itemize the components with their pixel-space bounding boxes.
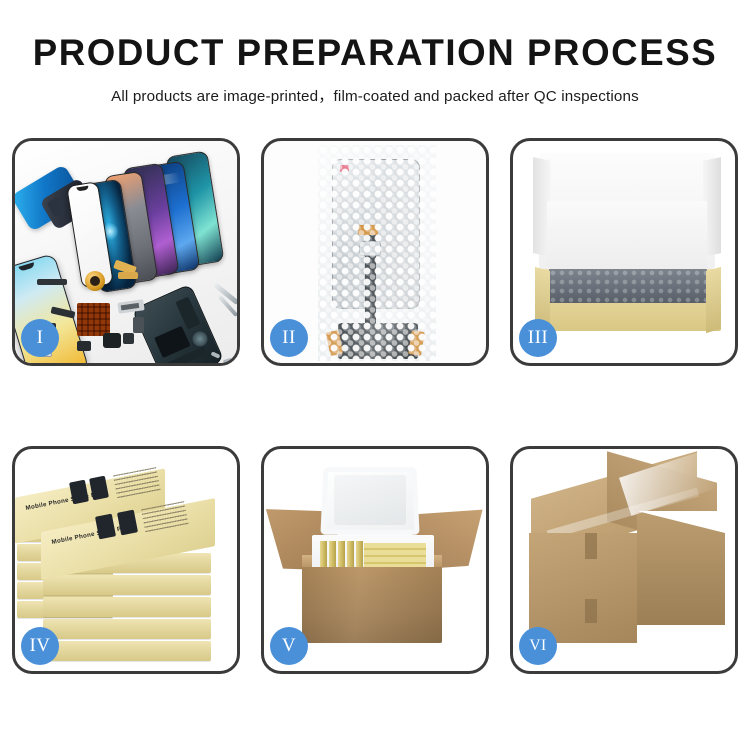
front-stack-slab-2 [43, 575, 211, 595]
process-steps-grid: I II [12, 138, 738, 674]
flex-cable-part-3 [118, 272, 138, 279]
step-card-iii: III [510, 138, 738, 366]
screws-part [211, 353, 237, 363]
battery-part [133, 317, 144, 333]
earpiece-part [103, 333, 121, 348]
button-part-1 [77, 341, 91, 351]
step-badge-vi: VI [519, 627, 557, 665]
step-card-i: I [12, 138, 240, 366]
step-badge-iv: IV [21, 627, 59, 665]
page-title: PRODUCT PREPARATION PROCESS [4, 34, 747, 73]
bubble-wrapped-contents [549, 269, 707, 303]
step-badge-ii: II [270, 319, 308, 357]
step-badge-v: V [270, 627, 308, 665]
front-stack-slab-4 [43, 619, 211, 639]
carton-seam-bottom [585, 599, 597, 623]
foam-sheet [547, 201, 707, 273]
copper-mesh-part [77, 303, 110, 336]
front-stack-slab-5 [43, 641, 211, 661]
plastic-sheen [318, 145, 436, 361]
carton-side-face [637, 511, 725, 625]
foam-lid-inner [334, 475, 406, 525]
speaker-part [85, 271, 105, 291]
step-badge-i: I [21, 319, 59, 357]
tray-right-corner [706, 267, 721, 333]
carton-body [302, 567, 442, 643]
carton-seam-top [585, 533, 597, 559]
step-card-v: V [261, 446, 489, 674]
header: PRODUCT PREPARATION PROCESS All products… [0, 0, 750, 106]
product-preparation-process-page: PRODUCT PREPARATION PROCESS All products… [0, 0, 750, 750]
front-stack-slab-3 [43, 597, 211, 617]
step-card-ii: II [261, 138, 489, 366]
carton-front-face [529, 533, 637, 643]
page-subtitle: All products are image-printed，film-coat… [0, 84, 750, 106]
step-card-vi: VI [510, 446, 738, 674]
step-card-iv: Mobile Phone Spare Parts Mobile Phone Sp… [12, 446, 240, 674]
step-badge-iii: III [519, 319, 557, 357]
button-part-2 [123, 333, 134, 344]
antenna-strip-part [37, 279, 67, 285]
